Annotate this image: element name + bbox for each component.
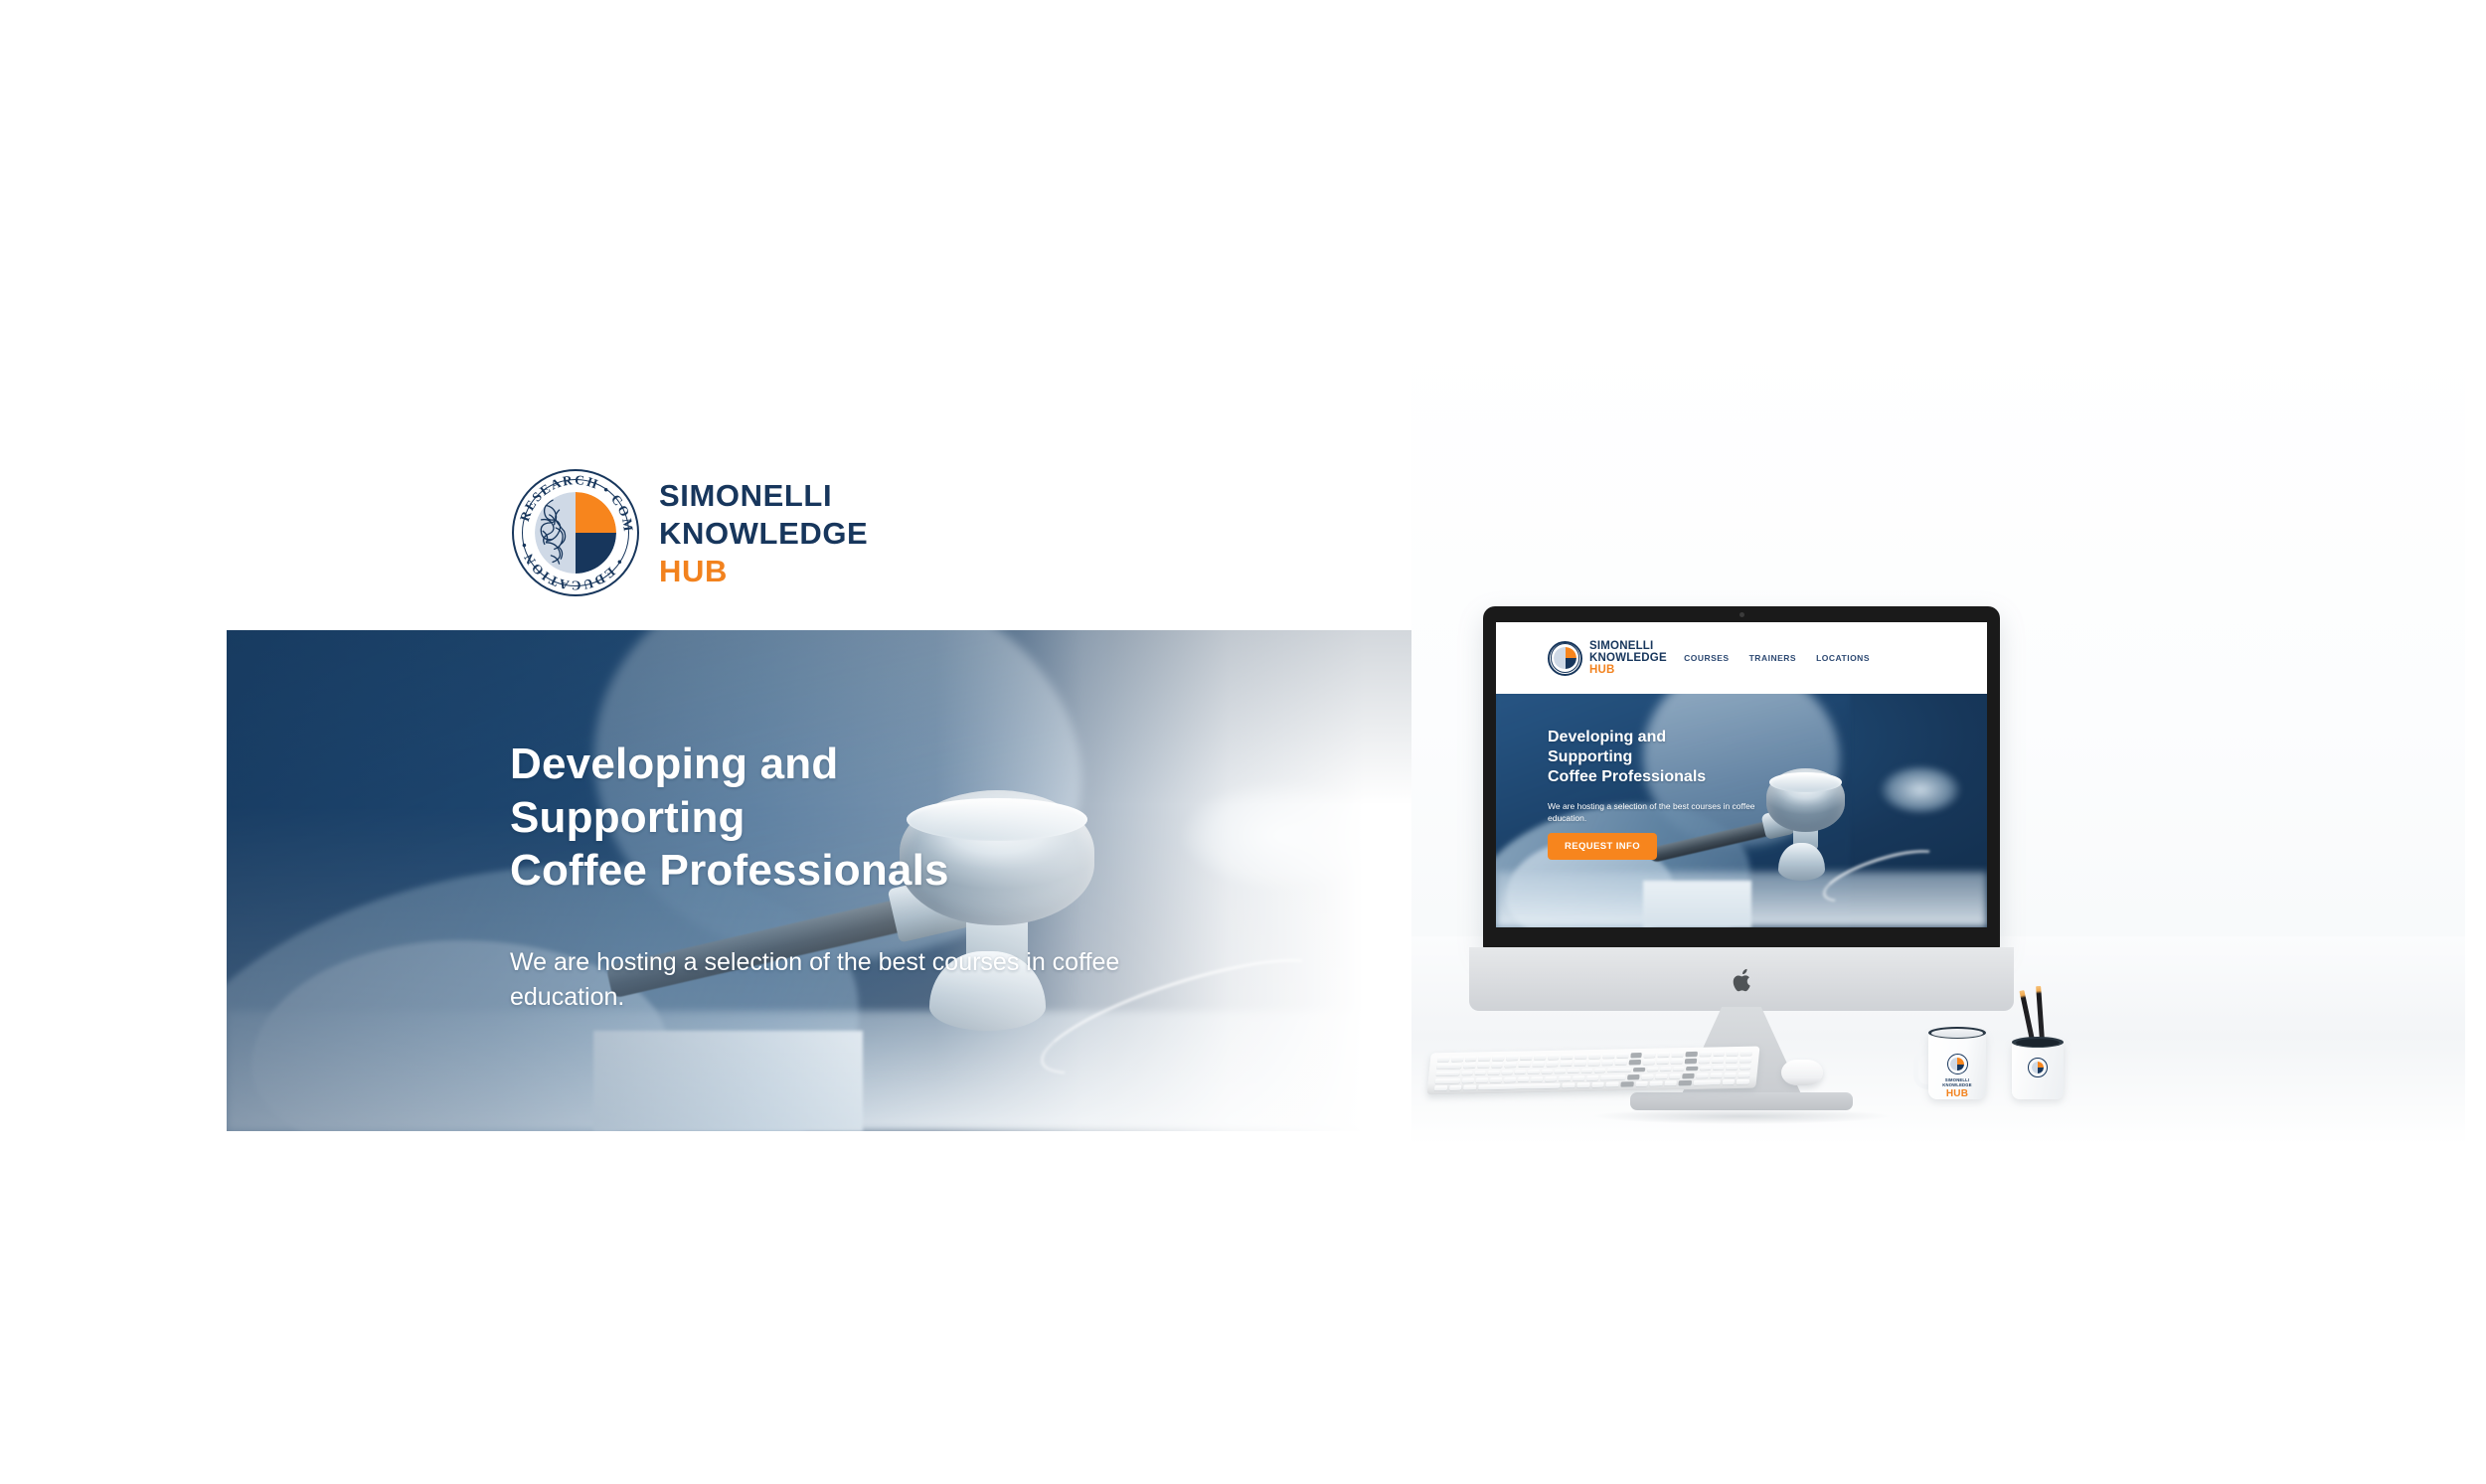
hero-headline-line-1: Developing and	[510, 740, 838, 788]
site-hero: Developing and Supporting Coffee Profess…	[1496, 694, 1987, 927]
mug-line-3: HUB	[1937, 1088, 1977, 1099]
branded-mug: SIMONELLI KNOWLEDGE HUB	[1928, 1024, 1992, 1099]
pencil-cup-opening	[2016, 1039, 2060, 1047]
desk-scene: SIMONELLI KNOWLEDGE HUB COURSES TRAINERS…	[1411, 328, 2465, 1203]
nav-item-locations[interactable]: LOCATIONS	[1816, 653, 1870, 663]
request-info-button[interactable]: REQUEST INFO	[1548, 833, 1657, 860]
site-brand-line-2: KNOWLEDGE	[1589, 652, 1667, 664]
simonelli-seal-icon: RESEARCH • COMMUNITY • EDUCATION •	[512, 469, 639, 596]
hero-subtext: We are hosting a selection of the best c…	[510, 945, 1146, 1014]
apple-logo-icon	[1732, 968, 1752, 993]
site-brand-line-3: HUB	[1589, 664, 1667, 676]
brand-line-1: SIMONELLI	[659, 480, 868, 511]
brand-line-3: HUB	[659, 556, 868, 586]
hero-banner: Developing and Supporting Coffee Profess…	[227, 630, 1449, 1131]
simonelli-seal-icon-cup	[2028, 1058, 2048, 1077]
site-brand-line-1: SIMONELLI	[1589, 640, 1667, 652]
svg-text:• EDUCATION •: • EDUCATION •	[516, 540, 627, 593]
site-hero-copy: Developing and Supporting Coffee Profess…	[1548, 728, 1796, 825]
imac-screen: SIMONELLI KNOWLEDGE HUB COURSES TRAINERS…	[1496, 622, 1987, 927]
hero-headline-line-3: Coffee Professionals	[510, 846, 949, 895]
webcam-icon	[1740, 612, 1744, 617]
mug-rim-inner	[1931, 1029, 1983, 1038]
site-navbar: SIMONELLI KNOWLEDGE HUB COURSES TRAINERS…	[1496, 622, 1987, 694]
mug-artwork: SIMONELLI KNOWLEDGE HUB	[1937, 1054, 1977, 1099]
hero-headline-line-2: Supporting	[510, 793, 746, 842]
site-logo[interactable]: SIMONELLI KNOWLEDGE HUB	[1548, 640, 1667, 677]
svg-text:RESEARCH • COMMUNITY: RESEARCH • COMMUNITY	[512, 469, 636, 534]
simonelli-seal-icon-mug	[1947, 1054, 1968, 1074]
magic-mouse[interactable]	[1781, 1060, 1823, 1085]
nav-item-courses[interactable]: COURSES	[1684, 653, 1730, 663]
site-hero-line-1: Developing and	[1548, 729, 1666, 745]
branded-pencil-cup	[2012, 1028, 2070, 1099]
brand-line-2: KNOWLEDGE	[659, 518, 868, 549]
page-canvas: RESEARCH • COMMUNITY • EDUCATION • SIMON…	[0, 0, 2486, 1484]
simonelli-seal-icon-small	[1548, 641, 1582, 676]
hero-headline: Developing and Supporting Coffee Profess…	[510, 738, 1146, 898]
site-hero-line-3: Coffee Professionals	[1548, 768, 1706, 785]
mug-body: SIMONELLI KNOWLEDGE HUB	[1928, 1032, 1986, 1099]
mug-line-2: KNOWLEDGE	[1937, 1082, 1977, 1087]
imac-shadow	[1592, 1108, 1891, 1124]
hero-copy: Developing and Supporting Coffee Profess…	[510, 738, 1146, 1014]
site-hero-headline: Developing and Supporting Coffee Profess…	[1548, 728, 1796, 787]
brand-wordmark: SIMONELLI KNOWLEDGE HUB	[659, 480, 868, 586]
brand-logo: RESEARCH • COMMUNITY • EDUCATION • SIMON…	[512, 469, 868, 596]
site-wordmark: SIMONELLI KNOWLEDGE HUB	[1589, 640, 1667, 677]
site-hero-subtext: We are hosting a selection of the best c…	[1548, 801, 1796, 825]
nav-item-trainers[interactable]: TRAINERS	[1749, 653, 1796, 663]
apple-keyboard[interactable]	[1426, 1047, 1759, 1095]
site-nav-menu: COURSES TRAINERS LOCATIONS	[1684, 653, 1870, 663]
site-hero-line-2: Supporting	[1548, 748, 1632, 765]
seal-ring-text: RESEARCH • COMMUNITY • EDUCATION •	[512, 469, 639, 596]
imac-device: SIMONELLI KNOWLEDGE HUB COURSES TRAINERS…	[1483, 606, 2000, 949]
